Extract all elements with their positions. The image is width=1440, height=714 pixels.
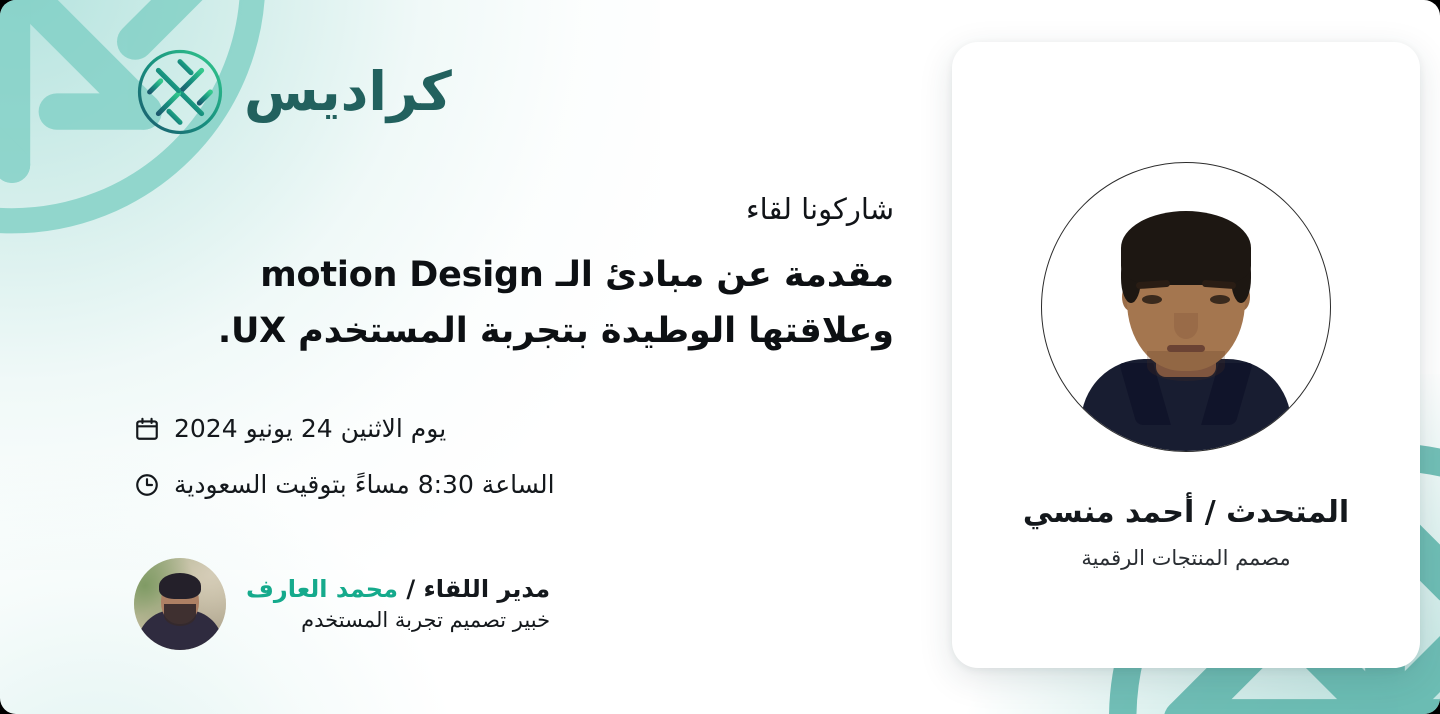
- event-time-row: الساعة 8:30 مساءً بتوقيت السعودية: [134, 470, 555, 500]
- speaker-avatar-nose: [1174, 313, 1198, 339]
- moderator-label: مدير اللقاء /: [406, 575, 550, 603]
- calendar-icon: [134, 416, 160, 442]
- speaker-avatar: [1041, 162, 1331, 452]
- speaker-avatar-jaw-shadow: [1147, 351, 1225, 381]
- event-poster: كراديس شاركونا لقاء مقدمة عن مبادئ الـ m…: [0, 0, 1440, 714]
- moderator-text-group: مدير اللقاء / محمد العارف خبير تصميم تجر…: [246, 573, 550, 635]
- brand-wordmark: كراديس: [244, 65, 452, 119]
- event-time-text: الساعة 8:30 مساءً بتوقيت السعودية: [174, 470, 555, 500]
- speaker-avatar-hair: [1121, 211, 1251, 285]
- brand-lockup: كراديس: [134, 44, 894, 140]
- speaker-card: المتحدث / أحمد منسي مصمم المنتجات الرقمي…: [952, 42, 1420, 668]
- moderator-name: محمد العارف: [246, 575, 398, 603]
- event-kicker: شاركونا لقاء: [134, 192, 894, 227]
- speaker-name: المتحدث / أحمد منسي: [1023, 494, 1349, 532]
- moderator-avatar-hair: [159, 573, 201, 599]
- moderator-block: مدير اللقاء / محمد العارف خبير تصميم تجر…: [134, 558, 894, 650]
- speaker-avatar-eye-right: [1210, 295, 1230, 304]
- moderator-avatar-beard: [164, 604, 196, 626]
- event-meta-list: يوم الاثنين 24 يونيو 2024 الساعة 8:30 مس…: [134, 414, 894, 500]
- event-date-row: يوم الاثنين 24 يونيو 2024: [134, 414, 446, 444]
- moderator-name-line: مدير اللقاء / محمد العارف: [246, 573, 550, 605]
- clock-icon: [134, 472, 160, 498]
- speaker-avatar-eye-left: [1142, 295, 1162, 304]
- speaker-avatar-mouth: [1167, 345, 1205, 352]
- moderator-role: خبير تصميم تجربة المستخدم: [246, 606, 550, 635]
- starburst-circle-logo-icon: [134, 46, 226, 138]
- moderator-avatar: [134, 558, 226, 650]
- event-details-column: كراديس شاركونا لقاء مقدمة عن مبادئ الـ m…: [134, 44, 894, 650]
- event-title: مقدمة عن مبادئ الـ motion Design وعلاقته…: [154, 247, 894, 360]
- speaker-role: مصمم المنتجات الرقمية: [1081, 544, 1290, 572]
- event-date-text: يوم الاثنين 24 يونيو 2024: [174, 414, 446, 444]
